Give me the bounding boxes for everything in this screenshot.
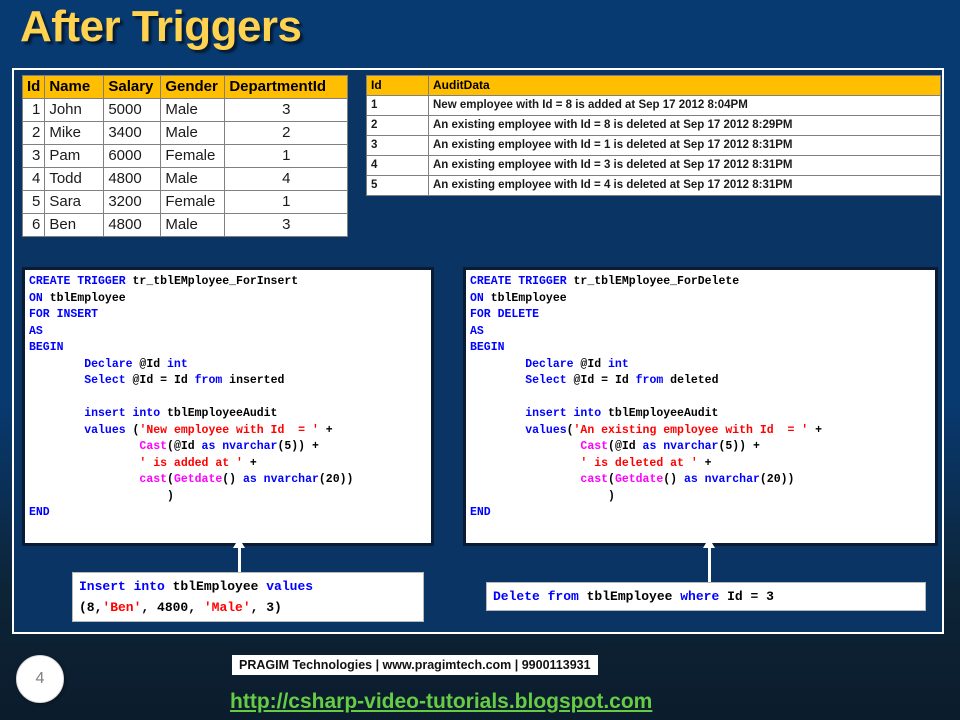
column-header-name: Name — [45, 76, 104, 99]
code-token: Insert into — [79, 579, 173, 594]
code-token: ) — [470, 490, 615, 503]
code-token: tblEmployee — [587, 589, 681, 604]
code-token: @Id = Id — [574, 374, 636, 387]
code-token: int — [608, 358, 629, 371]
table-header-row: Id AuditData — [367, 76, 941, 96]
code-token: AS — [29, 325, 43, 338]
code-token: as nvarchar — [684, 473, 760, 486]
cell-salary: 6000 — [104, 145, 161, 168]
code-token: (5)) + — [718, 440, 759, 453]
table-row: 4 An existing employee with Id = 3 is de… — [367, 156, 941, 176]
table-header-row: Id Name Salary Gender DepartmentId — [23, 76, 348, 99]
cell-audit-id: 5 — [367, 176, 429, 196]
code-token: ' is added at ' — [139, 457, 249, 470]
table-row: 5 An existing employee with Id = 4 is de… — [367, 176, 941, 196]
code-token: @Id — [139, 358, 167, 371]
code-token: @Id — [580, 358, 608, 371]
code-token: cast — [580, 473, 608, 486]
code-token: ( — [167, 473, 174, 486]
code-token — [470, 473, 580, 486]
cell-gender: Male — [161, 99, 225, 122]
table-row: 5 Sara 3200 Female 1 — [23, 191, 348, 214]
code-token: Declare — [29, 358, 139, 371]
code-token: AS — [470, 325, 484, 338]
code-token: (20)) — [319, 473, 354, 486]
content-panel: Id Name Salary Gender DepartmentId 1 Joh… — [12, 68, 944, 634]
code-token: tblEmployeeAudit — [608, 407, 718, 420]
table-row: 4 Todd 4800 Male 4 — [23, 168, 348, 191]
code-token: END — [470, 506, 491, 519]
code-token: as nvarchar — [243, 473, 319, 486]
code-token — [29, 440, 139, 453]
code-token: + — [326, 424, 333, 437]
employee-table: Id Name Salary Gender DepartmentId 1 Joh… — [22, 75, 348, 237]
footer-blog-link[interactable]: http://csharp-video-tutorials.blogspot.c… — [230, 690, 652, 714]
code-token: 'New employee with Id = ' — [139, 424, 325, 437]
code-token: ' is deleted at ' — [580, 457, 704, 470]
code-token: deleted — [670, 374, 718, 387]
code-token: @Id = Id — [133, 374, 195, 387]
table-row: 2 An existing employee with Id = 8 is de… — [367, 116, 941, 136]
code-token: Delete from — [493, 589, 587, 604]
cell-dept: 3 — [225, 214, 348, 237]
code-token: ( — [567, 424, 574, 437]
code-token — [470, 457, 580, 470]
cell-dept: 1 — [225, 191, 348, 214]
code-token: + — [815, 424, 822, 437]
cell-gender: Female — [161, 191, 225, 214]
column-header-gender: Gender — [161, 76, 225, 99]
page-title: After Triggers — [20, 2, 302, 52]
column-header-salary: Salary — [104, 76, 161, 99]
code-token: 'An existing employee with Id = ' — [574, 424, 816, 437]
callout-insert-statement: Insert into tblEmployee values (8,'Ben',… — [72, 572, 424, 622]
code-token: ON — [29, 292, 50, 305]
code-token: Select — [29, 374, 133, 387]
cell-name: Todd — [45, 168, 104, 191]
table-row: 1 John 5000 Male 3 — [23, 99, 348, 122]
code-token: (20)) — [760, 473, 795, 486]
cell-audit-id: 1 — [367, 96, 429, 116]
cell-audit-data: New employee with Id = 8 is added at Sep… — [429, 96, 941, 116]
code-token: 'Ben' — [102, 600, 141, 615]
code-token: @Id — [174, 440, 202, 453]
audit-table-container: Id AuditData 1 New employee with Id = 8 … — [366, 75, 941, 196]
code-token: 'Male' — [204, 600, 251, 615]
slide-page-number: 4 — [16, 655, 64, 703]
code-token — [29, 457, 139, 470]
code-token: values — [266, 579, 313, 594]
code-token: Id = 3 — [727, 589, 774, 604]
cell-audit-id: 4 — [367, 156, 429, 176]
code-token: Select — [470, 374, 574, 387]
code-token: insert into — [29, 407, 167, 420]
cell-name: Ben — [45, 214, 104, 237]
cell-name: John — [45, 99, 104, 122]
code-token: FOR INSERT — [29, 308, 98, 321]
code-token: ( — [608, 440, 615, 453]
audit-table: Id AuditData 1 New employee with Id = 8 … — [366, 75, 941, 196]
cell-name: Sara — [45, 191, 104, 214]
cell-audit-data: An existing employee with Id = 4 is dele… — [429, 176, 941, 196]
code-token: values — [470, 424, 567, 437]
code-token: values — [29, 424, 133, 437]
cell-id: 3 — [23, 145, 45, 168]
cell-id: 6 — [23, 214, 45, 237]
audit-table-body: 1 New employee with Id = 8 is added at S… — [367, 96, 941, 196]
cell-id: 2 — [23, 122, 45, 145]
sql-code-insert-trigger: CREATE TRIGGER tr_tblEMployee_ForInsert … — [22, 267, 434, 546]
code-token: tr_tblEMployee_ForDelete — [574, 275, 740, 288]
cell-dept: 3 — [225, 99, 348, 122]
code-token: tblEmployee — [173, 579, 267, 594]
cell-gender: Male — [161, 122, 225, 145]
cell-audit-id: 2 — [367, 116, 429, 136]
callout-delete-statement: Delete from tblEmployee where Id = 3 — [486, 582, 926, 611]
column-header-auditdata: AuditData — [429, 76, 941, 96]
cell-dept: 2 — [225, 122, 348, 145]
code-token: insert into — [470, 407, 608, 420]
cell-dept: 4 — [225, 168, 348, 191]
code-token: + — [250, 457, 257, 470]
code-token: from — [195, 374, 230, 387]
footer-credit: PRAGIM Technologies | www.pragimtech.com… — [232, 655, 598, 675]
code-token: Declare — [470, 358, 580, 371]
employee-table-body: 1 John 5000 Male 3 2 Mike 3400 Male 2 3 … — [23, 99, 348, 237]
code-token: + — [705, 457, 712, 470]
code-token: ( — [167, 440, 174, 453]
cell-id: 5 — [23, 191, 45, 214]
cell-name: Mike — [45, 122, 104, 145]
cell-audit-data: An existing employee with Id = 1 is dele… — [429, 136, 941, 156]
code-token: BEGIN — [470, 341, 505, 354]
column-header-audit-id: Id — [367, 76, 429, 96]
code-token: tblEmployee — [50, 292, 126, 305]
code-token: tblEmployeeAudit — [167, 407, 277, 420]
code-token: Cast — [139, 440, 167, 453]
code-token: CREATE TRIGGER — [29, 275, 133, 288]
code-token: ( — [608, 473, 615, 486]
cell-salary: 4800 — [104, 214, 161, 237]
cell-salary: 3200 — [104, 191, 161, 214]
sql-code-delete-trigger: CREATE TRIGGER tr_tblEMployee_ForDelete … — [463, 267, 938, 546]
employee-table-container: Id Name Salary Gender DepartmentId 1 Joh… — [22, 75, 348, 237]
code-token: where — [680, 589, 727, 604]
column-header-id: Id — [23, 76, 45, 99]
cell-audit-data: An existing employee with Id = 3 is dele… — [429, 156, 941, 176]
code-token: cast — [139, 473, 167, 486]
cell-salary: 3400 — [104, 122, 161, 145]
code-token: Cast — [580, 440, 608, 453]
code-token: from — [636, 374, 671, 387]
code-token — [29, 473, 139, 486]
cell-gender: Male — [161, 214, 225, 237]
code-token: Getdate — [615, 473, 663, 486]
code-token: CREATE TRIGGER — [470, 275, 574, 288]
code-token: @Id — [615, 440, 643, 453]
code-token: tr_tblEMployee_ForInsert — [133, 275, 299, 288]
arrow-up-icon — [238, 547, 241, 574]
cell-gender: Male — [161, 168, 225, 191]
cell-name: Pam — [45, 145, 104, 168]
cell-dept: 1 — [225, 145, 348, 168]
code-token: () — [663, 473, 684, 486]
table-row: 3 An existing employee with Id = 1 is de… — [367, 136, 941, 156]
cell-gender: Female — [161, 145, 225, 168]
cell-salary: 4800 — [104, 168, 161, 191]
code-token — [470, 440, 580, 453]
cell-salary: 5000 — [104, 99, 161, 122]
arrow-up-icon — [708, 547, 711, 584]
code-token: , 4800, — [141, 600, 203, 615]
code-token: (5)) + — [277, 440, 318, 453]
code-token: ON — [470, 292, 491, 305]
code-token: as nvarchar — [202, 440, 278, 453]
table-row: 2 Mike 3400 Male 2 — [23, 122, 348, 145]
code-token: as nvarchar — [643, 440, 719, 453]
code-token: inserted — [229, 374, 284, 387]
code-token: FOR DELETE — [470, 308, 539, 321]
code-token: , 3) — [251, 600, 282, 615]
cell-id: 1 — [23, 99, 45, 122]
code-token: (8, — [79, 600, 102, 615]
code-token: END — [29, 506, 50, 519]
cell-id: 4 — [23, 168, 45, 191]
cell-audit-data: An existing employee with Id = 8 is dele… — [429, 116, 941, 136]
code-token: ) — [29, 490, 174, 503]
code-token: int — [167, 358, 188, 371]
table-row: 3 Pam 6000 Female 1 — [23, 145, 348, 168]
table-row: 1 New employee with Id = 8 is added at S… — [367, 96, 941, 116]
column-header-departmentid: DepartmentId — [225, 76, 348, 99]
code-token: () — [222, 473, 243, 486]
table-row: 6 Ben 4800 Male 3 — [23, 214, 348, 237]
code-token: BEGIN — [29, 341, 64, 354]
code-token: Getdate — [174, 473, 222, 486]
cell-audit-id: 3 — [367, 136, 429, 156]
code-token: tblEmployee — [491, 292, 567, 305]
